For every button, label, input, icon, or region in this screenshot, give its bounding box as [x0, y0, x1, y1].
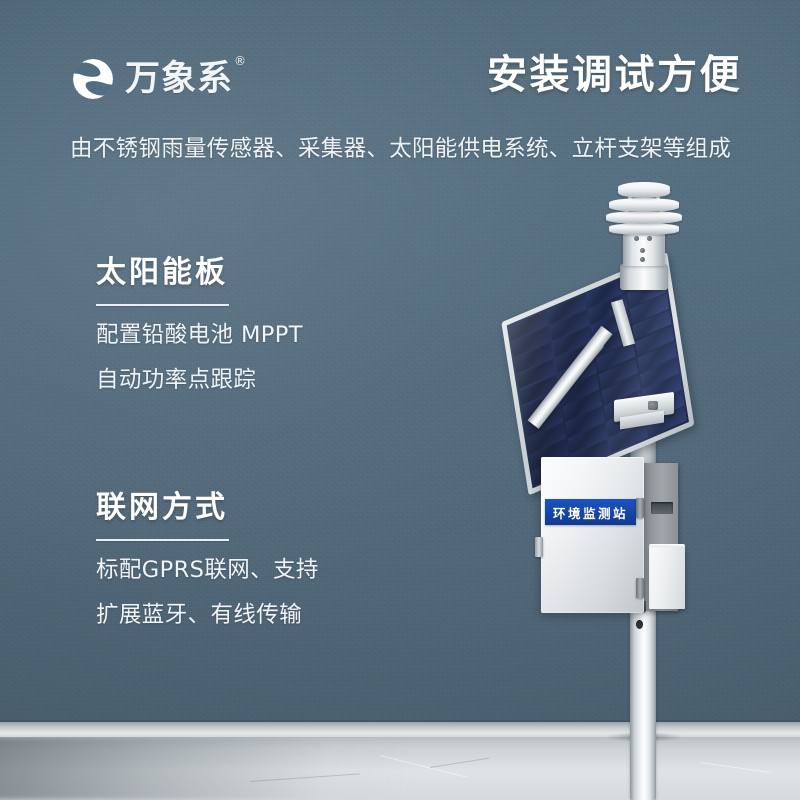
- cabinet-nameplate: 环境监测站: [545, 499, 636, 525]
- sensor-port: [634, 236, 639, 241]
- cabinet-label-text: 环境监测站: [553, 503, 628, 522]
- cabinet-latch: [535, 537, 543, 557]
- sensor-body: [623, 230, 665, 266]
- shield-plate: [606, 211, 682, 224]
- sensor-collar: [620, 264, 668, 290]
- shield-plate: [609, 223, 679, 235]
- cabinet-vent-slot: [651, 502, 673, 514]
- cabinet-door-shading: [541, 457, 644, 613]
- pole-cable-hole: [636, 620, 643, 629]
- weather-sensor-shield-icon: [604, 182, 684, 254]
- sensor-port: [640, 257, 645, 262]
- sensor-port: [640, 248, 645, 253]
- cabinet-hinge: [636, 498, 644, 518]
- panel-cell-grid: [507, 259, 689, 488]
- cabinet-hinge: [636, 578, 644, 598]
- weather-station-photo: 环境监测站: [0, 0, 800, 800]
- shield-plate: [609, 198, 679, 212]
- sensor-port: [647, 236, 652, 241]
- poster-canvas: 万象系® 安装调试方便 由不锈钢雨量传感器、采集器、太阳能供电系统、立杆支架等组…: [0, 0, 800, 800]
- clamp-bolt: [648, 401, 658, 410]
- aux-enclosure: [649, 547, 685, 609]
- shield-top-cap: [618, 182, 670, 198]
